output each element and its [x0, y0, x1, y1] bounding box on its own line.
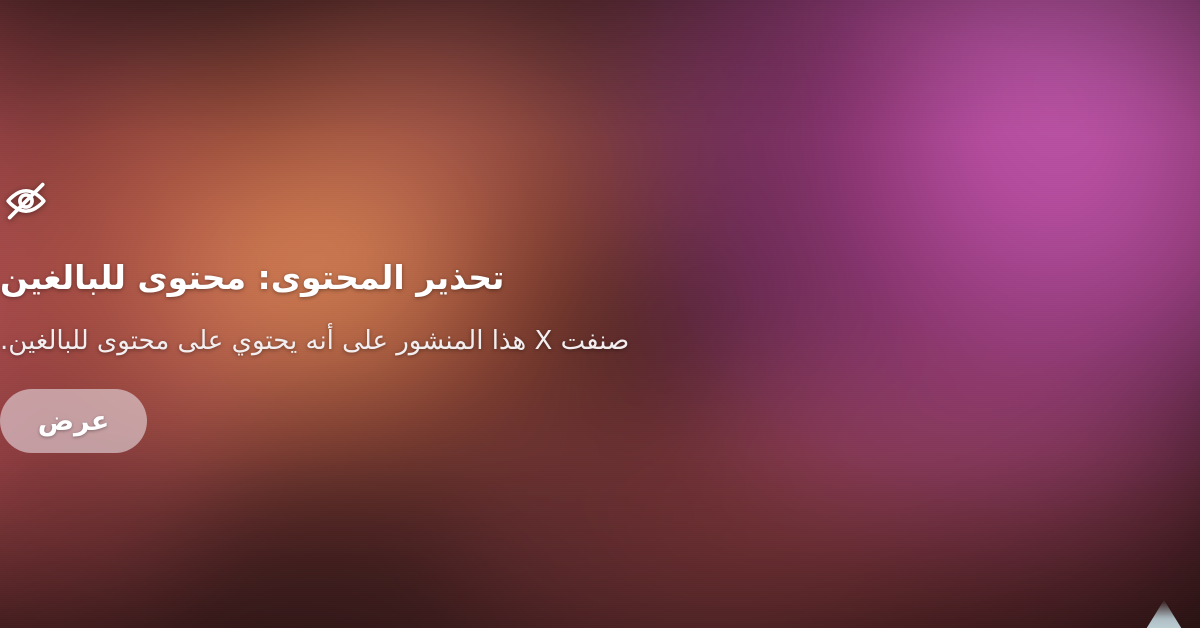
eye-off-icon [0, 175, 52, 227]
content-warning-description: صنفت X هذا المنشور على أنه يحتوي على محت… [0, 324, 629, 359]
content-warning-panel: تحذير المحتوى: محتوى للبالغين صنفت X هذا… [0, 0, 1200, 628]
content-warning-screen: تحذير المحتوى: محتوى للبالغين صنفت X هذا… [0, 0, 1200, 628]
content-warning-title: تحذير المحتوى: محتوى للبالغين [0, 257, 504, 298]
view-button[interactable]: عرض [0, 389, 147, 453]
